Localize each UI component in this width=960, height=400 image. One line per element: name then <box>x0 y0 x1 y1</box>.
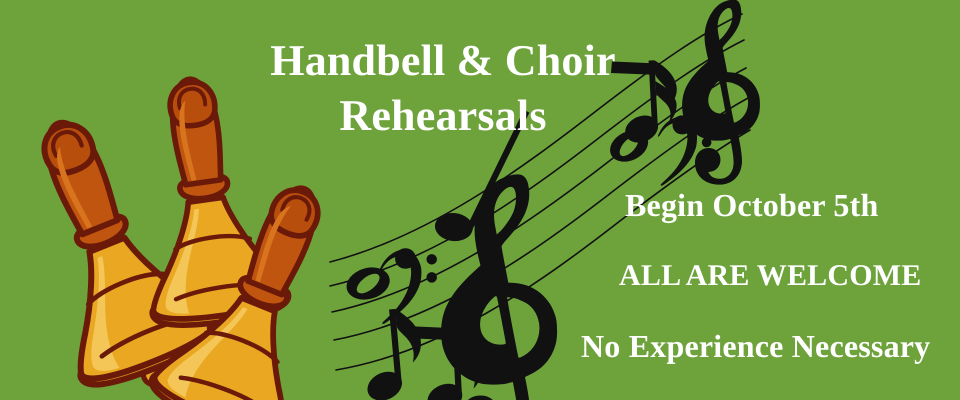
headline-line-1: Handbell & Choir <box>0 38 923 84</box>
no-experience-text: No Experience Necessary <box>581 329 930 363</box>
banner-poster: Handbell & Choir Rehearsals Begin Octobe… <box>0 0 960 400</box>
headline-line-2: Rehearsals <box>0 93 923 139</box>
start-date-text: Begin October 5th <box>625 188 878 222</box>
all-are-welcome-text: ALL ARE WELCOME <box>619 260 922 292</box>
